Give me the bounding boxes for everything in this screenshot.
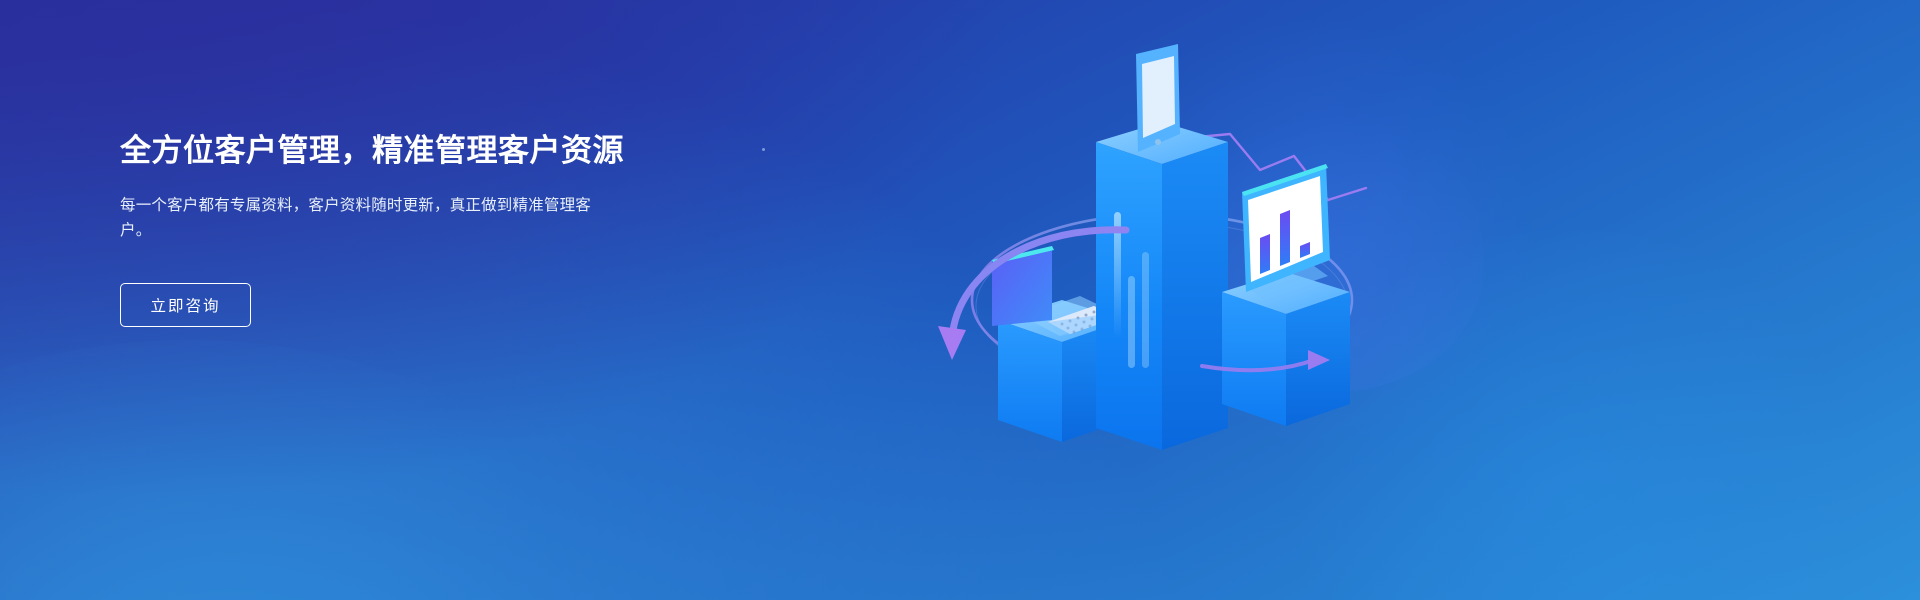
right-pillar <box>1222 272 1350 426</box>
hero-illustration <box>930 30 1400 570</box>
page-title: 全方位客户管理，精准管理客户资源 <box>120 132 740 171</box>
hero-copy: 全方位客户管理，精准管理客户资源 每一个客户都有专属资料，客户资料随时更新，真正… <box>120 132 740 327</box>
hero-description: 每一个客户都有专属资料，客户资料随时更新，真正做到精准管理客户。 <box>120 193 598 243</box>
monitor-bar-chart-icon <box>1242 164 1330 298</box>
sparkle-speck <box>762 148 765 151</box>
consult-now-button[interactable]: 立即咨询 <box>120 283 251 327</box>
hero-banner: 全方位客户管理，精准管理客户资源 每一个客户都有专属资料，客户资料随时更新，真正… <box>0 0 1920 600</box>
ambient-glow-bottom-left <box>0 340 640 600</box>
center-pillar <box>1096 122 1228 450</box>
tablet-icon <box>1136 44 1180 152</box>
